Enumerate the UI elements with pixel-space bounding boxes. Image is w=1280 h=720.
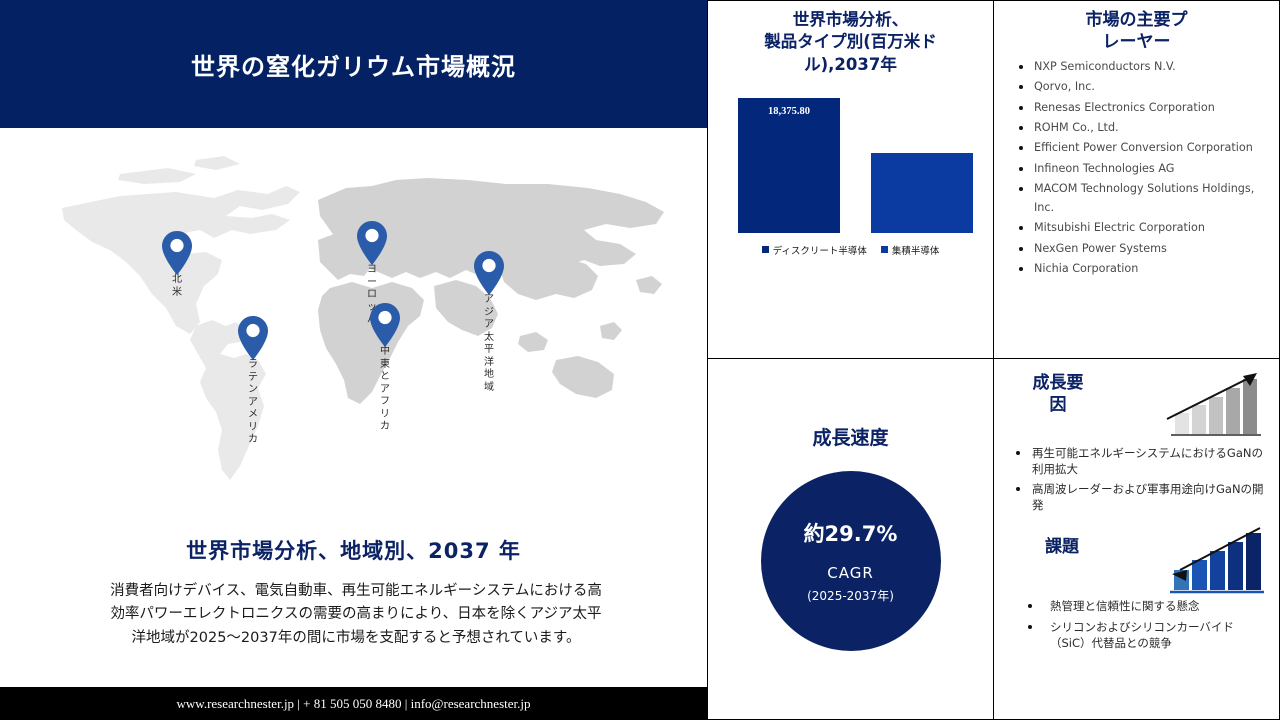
list-item: Mitsubishi Electric Corporation — [1014, 218, 1269, 237]
growth-factors-list: 再生可能エネルギーシステムにおけるGaNの利用拡大 高周波レーダーおよび軍事用途… — [994, 445, 1279, 513]
list-item: Qorvo, Inc. — [1014, 77, 1269, 96]
world-map: 北米 ヨーロッパ アジア太平 洋地域 — [0, 130, 707, 525]
world-map-svg — [0, 130, 707, 525]
chart-title: 世界市場分析、 製品タイプ別(百万米ド ル),2037年 — [708, 1, 993, 76]
key-players-title: 市場の主要プ レーヤー — [994, 1, 1279, 57]
legend-swatch-icon — [762, 246, 769, 253]
legend-label: 集積半導体 — [892, 243, 940, 257]
location-pin-icon — [368, 302, 402, 348]
challenges-list: 熱管理と信頼性に関する懸念 シリコンおよびシリコンカーバイド（SiC）代替品との… — [994, 598, 1279, 651]
key-players-list: NXP Semiconductors N.V. Qorvo, Inc. Rene… — [994, 57, 1279, 278]
bar-integrated-semiconductor — [871, 153, 973, 233]
list-item: Nichia Corporation — [1014, 259, 1269, 278]
growth-rate-title: 成長速度 — [708, 359, 993, 450]
page-title: 世界の窒化ガリウム市場概況 — [191, 47, 516, 82]
challenges-header: 課題 — [994, 516, 1279, 598]
key-players-panel: 市場の主要プ レーヤー NXP Semiconductors N.V. Qorv… — [993, 0, 1280, 359]
list-item: 高周波レーダーおよび軍事用途向けGaNの開発 — [1012, 481, 1267, 514]
growth-factors-header: 成長要 因 — [994, 359, 1279, 445]
list-item: Efficient Power Conversion Corporation — [1014, 138, 1269, 157]
list-item: 熱管理と信頼性に関する懸念 — [1024, 598, 1267, 614]
legend-label: ディスクリート半導体 — [773, 243, 867, 257]
footer-contact-text: www.researchnester.jp | + 81 505 050 848… — [177, 696, 531, 712]
cagr-metric-label: CAGR — [827, 564, 874, 582]
map-pin-europe[interactable]: ヨーロッパ — [355, 220, 389, 266]
list-item: MACOM Technology Solutions Holdings, Inc… — [1014, 179, 1269, 218]
left-panel: 世界の窒化ガリウム市場概況 — [0, 0, 707, 720]
cagr-percent: 約29.7% — [804, 518, 898, 548]
list-item: ROHM Co., Ltd. — [1014, 118, 1269, 137]
ascending-bar-chart-gray-icon — [1165, 367, 1265, 439]
legend-item-discrete: ディスクリート半導体 — [762, 243, 867, 257]
chart-legend: ディスクリート半導体 集積半導体 — [708, 243, 993, 257]
list-item: NXP Semiconductors N.V. — [1014, 57, 1269, 76]
challenges-title: 課題 — [1016, 532, 1108, 557]
footer-bar: www.researchnester.jp | + 81 505 050 848… — [0, 687, 707, 720]
cagr-circle: 約29.7% CAGR (2025-2037年) — [761, 471, 941, 651]
list-item: 再生可能エネルギーシステムにおけるGaNの利用拡大 — [1012, 445, 1267, 478]
location-pin-icon — [160, 230, 194, 276]
location-pin-icon — [355, 220, 389, 266]
map-pin-asia-pacific[interactable]: アジア太平 洋地域 — [472, 250, 506, 296]
map-pin-middle-east-africa[interactable]: 中東とアフ リカ — [368, 302, 402, 348]
legend-item-integrated: 集積半導体 — [881, 243, 940, 257]
bar-value-label: 18,375.80 — [738, 106, 840, 117]
map-pin-label: 中東とアフ リカ — [377, 346, 394, 434]
infographic-root: 世界の窒化ガリウム市場概況 — [0, 0, 1280, 720]
map-pin-north-america[interactable]: 北米 — [160, 230, 194, 276]
list-item: NexGen Power Systems — [1014, 239, 1269, 258]
list-item: シリコンおよびシリコンカーバイド（SiC）代替品との競争 — [1024, 619, 1267, 652]
growth-factors-title: 成長要 因 — [1012, 373, 1104, 417]
region-section-description: 消費者向けデバイス、電気自動車、再生可能エネルギーシステムにおける高効率パワーエ… — [106, 580, 606, 650]
chart-plot-area: 18,375.80 — [728, 98, 973, 233]
growth-factors-panel: 成長要 因 再生可能エネルギーシステムにおけるGaNの利用拡大 高周波レーダーお… — [993, 358, 1280, 720]
bar-discrete-semiconductor: 18,375.80 — [738, 98, 840, 233]
location-pin-icon — [472, 250, 506, 296]
legend-swatch-icon — [881, 246, 888, 253]
growth-rate-panel: 成長速度 約29.7% CAGR (2025-2037年) — [707, 358, 994, 720]
hero-banner: 世界の窒化ガリウム市場概況 — [0, 0, 707, 128]
map-pin-label: アジア太平 洋地域 — [481, 294, 498, 394]
map-pin-label: ラテン アメリ カ — [245, 359, 262, 447]
map-pin-latin-america[interactable]: ラテン アメリ カ — [236, 315, 270, 361]
location-pin-icon — [236, 315, 270, 361]
region-section-title: 世界市場分析、地域別、2037 年 — [0, 535, 707, 565]
list-item: Infineon Technologies AG — [1014, 159, 1269, 178]
cagr-period: (2025-2037年) — [807, 587, 894, 604]
map-pin-label: 北米 — [169, 274, 186, 299]
chart-panel: 世界市場分析、 製品タイプ別(百万米ド ル),2037年 18,375.80 デ… — [707, 0, 994, 359]
ascending-bar-chart-blue-icon — [1162, 522, 1267, 596]
list-item: Renesas Electronics Corporation — [1014, 98, 1269, 117]
